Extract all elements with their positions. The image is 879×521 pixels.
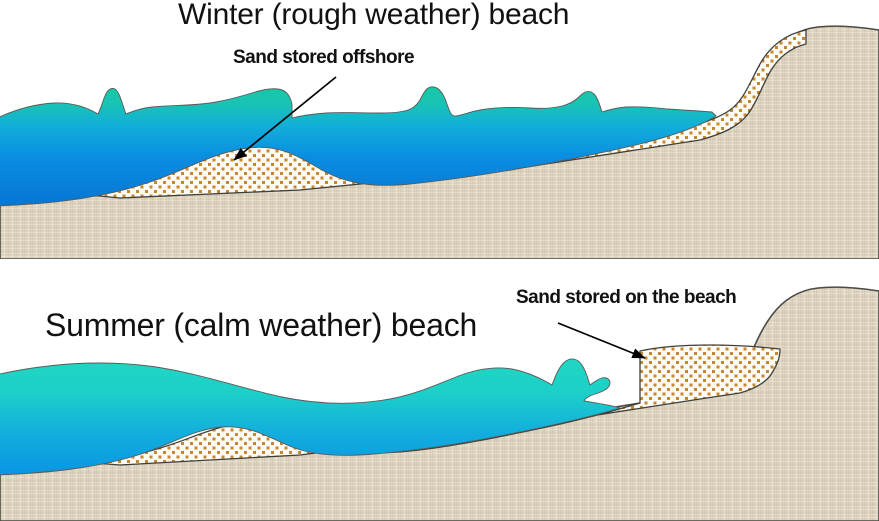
summer-scene <box>0 261 879 521</box>
beach-profile-diagram: Winter (rough weather) beach Sand stored… <box>0 0 879 521</box>
winter-scene <box>0 0 879 259</box>
summer-annotation-arrow <box>558 323 645 358</box>
winter-panel: Winter (rough weather) beach Sand stored… <box>0 0 879 259</box>
summer-title: Summer (calm weather) beach <box>45 307 477 344</box>
summer-annotation-label: Sand stored on the beach <box>516 287 736 309</box>
winter-annotation-label: Sand stored offshore <box>233 47 414 69</box>
winter-title: Winter (rough weather) beach <box>178 0 569 32</box>
summer-panel: Summer (calm weather) beach Sand stored … <box>0 261 879 521</box>
